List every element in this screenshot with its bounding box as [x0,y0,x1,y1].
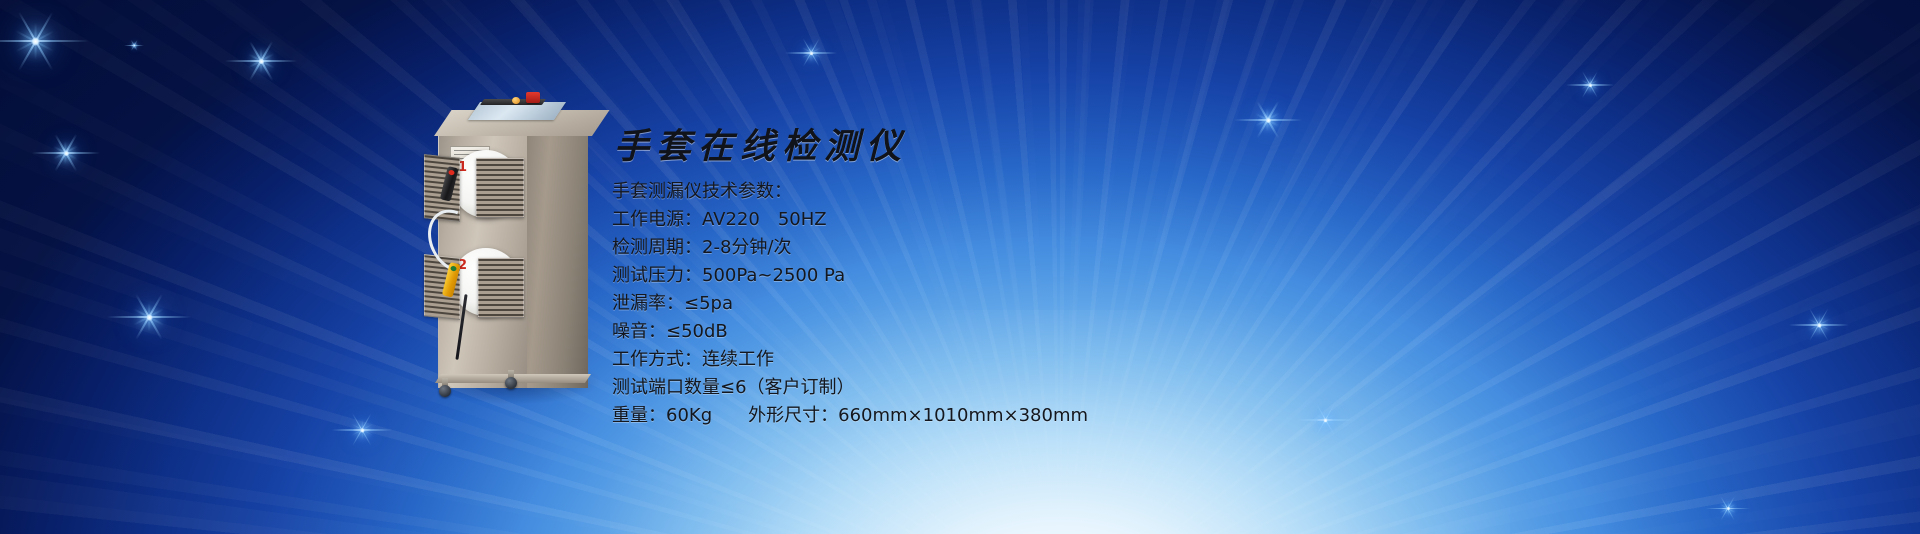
product-photo-glove-leak-tester: 1 2 [420,90,620,400]
spec-line: 工作电源：AV220 50HZ [612,207,1392,233]
spec-line: 重量：60Kg 外形尺寸：660mm×1010mm×380mm [612,403,1392,429]
spec-line: 泄漏率：≤5pa [612,291,1392,317]
emergency-stop-button[interactable] [526,92,540,103]
spec-line: 手套测漏仪技术参数： [612,179,1392,205]
spec-line: 测试端口数量≤6（客户订制） [612,375,1392,401]
cabinet-side-panel [526,124,588,388]
caster-wheel-left [439,385,451,397]
vent-grille-lower-right [478,258,524,318]
copy-block: 手套在线检测仪 手套测漏仪技术参数：工作电源：AV220 50HZ检测周期：2-… [612,118,1392,431]
spec-line: 检测周期：2-8分钟/次 [612,235,1392,261]
spec-line: 工作方式：连续工作 [612,347,1392,373]
promo-banner: 1 2 手套在线检测仪 手套测漏仪技术参数：工作电源：AV220 50HZ检测周 [0,0,1920,534]
spec-list: 手套测漏仪技术参数：工作电源：AV220 50HZ检测周期：2-8分钟/次测试压… [612,179,1392,429]
indicator-lamp-icon [512,97,520,104]
product-title: 手套在线检测仪 [614,118,1392,169]
caster-wheel-right [505,377,517,389]
spec-line: 测试压力：500Pa~2500 Pa [612,263,1392,289]
vent-grille-upper-right [476,158,524,218]
spec-line: 噪音：≤50dB [612,319,1392,345]
